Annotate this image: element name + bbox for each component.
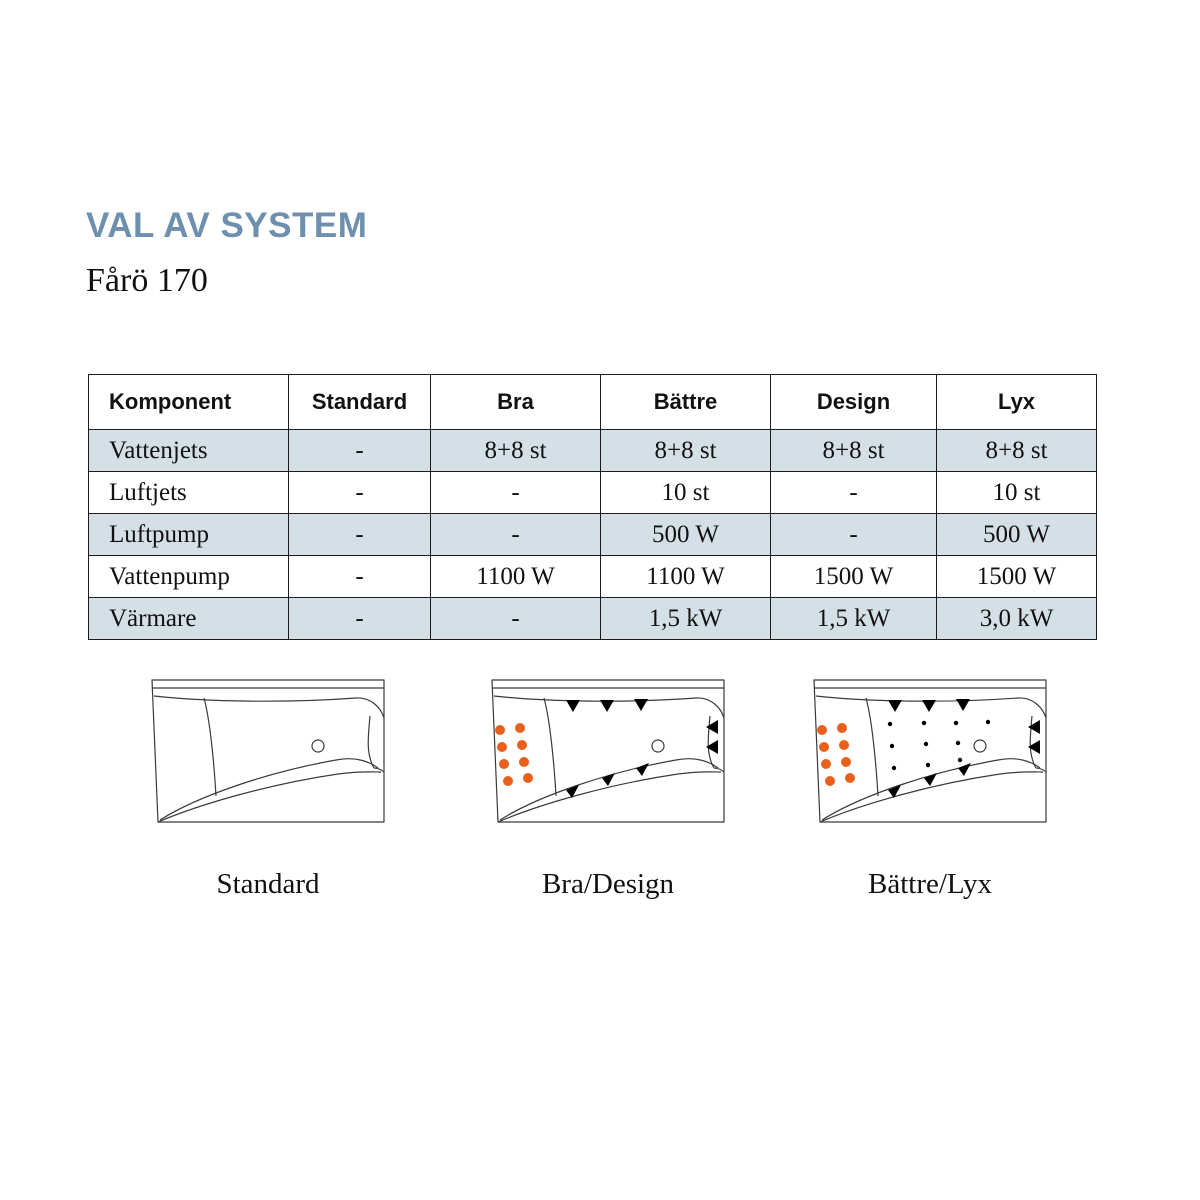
air-jet-icon: [845, 773, 855, 783]
cell-component: Luftjets: [89, 472, 289, 514]
cell-battre: 1,5 kW: [601, 598, 771, 640]
cell-component: Vattenpump: [89, 556, 289, 598]
table-header: Komponent Standard Bra Bättre Design Lyx: [89, 375, 1097, 430]
air-jet-icon: [821, 759, 831, 769]
air-jet-icon: [839, 740, 849, 750]
cell-lyx: 8+8 st: [937, 430, 1097, 472]
table-row: Värmare - - 1,5 kW 1,5 kW 3,0 kW: [89, 598, 1097, 640]
cell-design: 1500 W: [771, 556, 937, 598]
cell-standard: -: [289, 598, 431, 640]
table-header-row: Komponent Standard Bra Bättre Design Lyx: [89, 375, 1097, 430]
water-jet-icon: [1028, 720, 1040, 734]
air-jet-icon: [837, 723, 847, 733]
air-jet-icon: [517, 740, 527, 750]
small-air-jet-icon: [986, 720, 990, 724]
tub-shelf-curve-lower: [158, 772, 381, 822]
tub-inner-left-edge: [544, 698, 556, 796]
tub-inner-rim-top: [154, 696, 384, 718]
table-row: Luftpump - - 500 W - 500 W: [89, 514, 1097, 556]
table-body: Vattenjets - 8+8 st 8+8 st 8+8 st 8+8 st…: [89, 430, 1097, 640]
drain-icon: [652, 740, 664, 752]
water-jet-icon: [888, 700, 902, 712]
cell-design: 1,5 kW: [771, 598, 937, 640]
column-header-battre: Bättre: [601, 375, 771, 430]
drain-icon: [974, 740, 986, 752]
air-jet-icon: [819, 742, 829, 752]
air-jet-icon: [841, 757, 851, 767]
air-jet-icon: [817, 725, 827, 735]
cell-component: Värmare: [89, 598, 289, 640]
bathtub-diagram-row: Standard: [88, 672, 1098, 912]
bathtub-diagram-bra-design: Bra/Design: [478, 672, 738, 901]
cell-lyx: 500 W: [937, 514, 1097, 556]
cell-design: -: [771, 514, 937, 556]
small-air-jet-icon: [890, 744, 894, 748]
page-subtitle: Fårö 170: [86, 262, 208, 300]
water-jet-icon: [600, 700, 614, 712]
cell-design: 8+8 st: [771, 430, 937, 472]
tub-shelf-curve-upper: [500, 759, 718, 820]
small-air-jet-icon: [956, 741, 960, 745]
cell-battre: 8+8 st: [601, 430, 771, 472]
cell-bra: 8+8 st: [431, 430, 601, 472]
small-air-jet-icon: [954, 721, 958, 725]
cell-component: Luftpump: [89, 514, 289, 556]
water-jet-icon: [958, 763, 971, 776]
cell-component: Vattenjets: [89, 430, 289, 472]
cell-standard: -: [289, 472, 431, 514]
water-jet-group-top: [888, 699, 970, 712]
small-air-jet-icon: [888, 722, 892, 726]
air-jet-group: [817, 723, 855, 786]
air-jet-icon: [497, 742, 507, 752]
column-header-lyx: Lyx: [937, 375, 1097, 430]
water-jet-group-diagonal: [566, 763, 649, 798]
cell-bra: -: [431, 472, 601, 514]
water-jet-icon: [634, 699, 648, 711]
drain-icon: [312, 740, 324, 752]
cell-battre: 10 st: [601, 472, 771, 514]
column-header-komponent: Komponent: [89, 375, 289, 430]
cell-lyx: 1500 W: [937, 556, 1097, 598]
water-jet-icon: [636, 763, 649, 776]
air-jet-icon: [515, 723, 525, 733]
bathtub-outline-svg-bra-design: [478, 672, 738, 842]
water-jet-icon: [922, 700, 936, 712]
small-air-jet-group: [888, 720, 990, 770]
page-title: VAL AV SYSTEM: [86, 206, 367, 246]
cell-design: -: [771, 472, 937, 514]
small-air-jet-icon: [892, 766, 896, 770]
bathtub-outline-svg-battre-lyx: [800, 672, 1060, 842]
water-jet-icon: [566, 700, 580, 712]
cell-bra: -: [431, 514, 601, 556]
column-header-design: Design: [771, 375, 937, 430]
bathtub-diagram-battre-lyx: Bättre/Lyx: [800, 672, 1060, 901]
table-row: Luftjets - - 10 st - 10 st: [89, 472, 1097, 514]
column-header-standard: Standard: [289, 375, 431, 430]
diagram-caption-bra-design: Bra/Design: [478, 868, 738, 901]
tub-shelf-curve-upper: [160, 759, 378, 820]
tub-inner-left-edge: [204, 698, 216, 796]
spec-table-container: Komponent Standard Bra Bättre Design Lyx…: [88, 374, 1096, 640]
air-jet-icon: [523, 773, 533, 783]
table-row: Vattenjets - 8+8 st 8+8 st 8+8 st 8+8 st: [89, 430, 1097, 472]
cell-battre: 500 W: [601, 514, 771, 556]
air-jet-icon: [495, 725, 505, 735]
bathtub-diagram-standard: Standard: [138, 672, 398, 901]
cell-standard: -: [289, 430, 431, 472]
air-jet-group: [495, 723, 533, 786]
small-air-jet-icon: [922, 721, 926, 725]
table-row: Vattenpump - 1100 W 1100 W 1500 W 1500 W: [89, 556, 1097, 598]
cell-battre: 1100 W: [601, 556, 771, 598]
cell-lyx: 10 st: [937, 472, 1097, 514]
column-header-bra: Bra: [431, 375, 601, 430]
small-air-jet-icon: [924, 742, 928, 746]
air-jet-icon: [825, 776, 835, 786]
water-jet-icon: [706, 720, 718, 734]
water-jet-icon: [956, 699, 970, 711]
water-jet-group-diagonal: [888, 763, 971, 798]
air-jet-icon: [503, 776, 513, 786]
cell-standard: -: [289, 514, 431, 556]
small-air-jet-icon: [958, 758, 962, 762]
tub-inner-left-edge: [866, 698, 878, 796]
cell-standard: -: [289, 556, 431, 598]
tub-shelf-curve-upper: [822, 759, 1040, 820]
air-jet-icon: [499, 759, 509, 769]
cell-lyx: 3,0 kW: [937, 598, 1097, 640]
cell-bra: -: [431, 598, 601, 640]
diagram-caption-standard: Standard: [138, 868, 398, 901]
diagram-caption-battre-lyx: Bättre/Lyx: [800, 868, 1060, 901]
small-air-jet-icon: [926, 763, 930, 767]
air-jet-icon: [519, 757, 529, 767]
cell-bra: 1100 W: [431, 556, 601, 598]
water-jet-group-top: [566, 699, 648, 712]
tub-inner-right-edge: [368, 716, 374, 768]
bathtub-outline-svg-standard: [138, 672, 398, 842]
specification-table: Komponent Standard Bra Bättre Design Lyx…: [88, 374, 1097, 640]
